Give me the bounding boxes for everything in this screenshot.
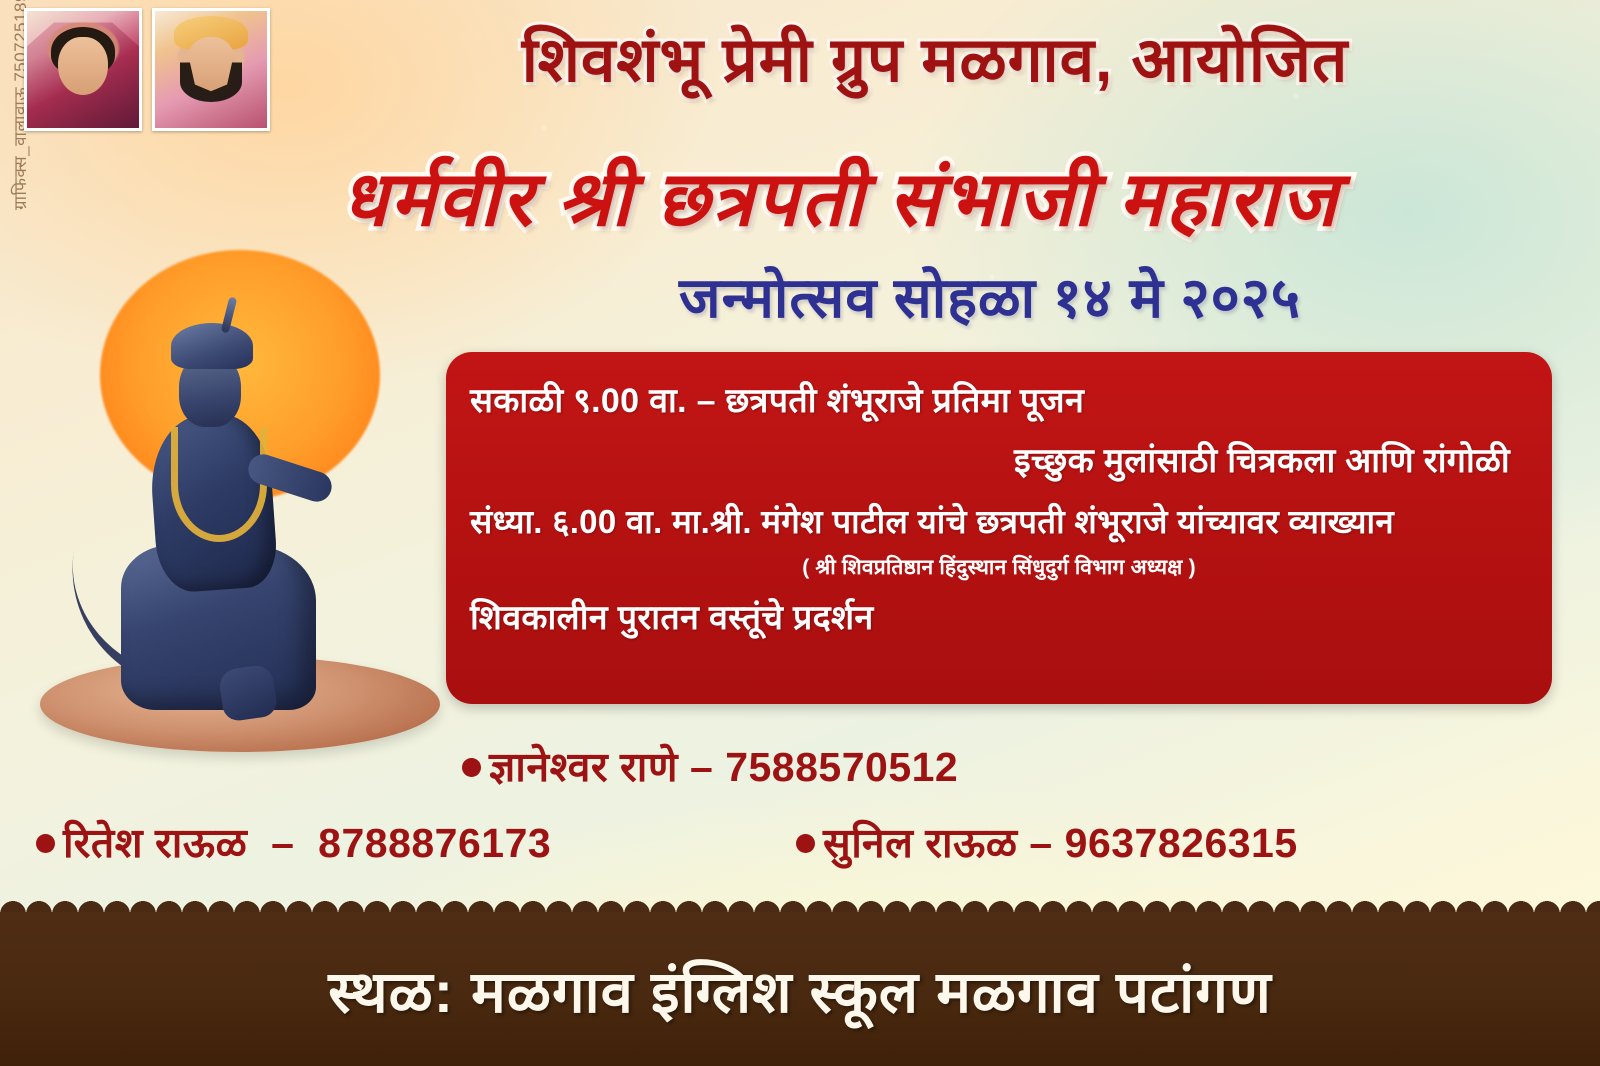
turban-shape	[171, 323, 253, 369]
contact-2-separator: –	[271, 820, 294, 866]
garland-shape	[171, 427, 267, 542]
contact-3-phone[interactable]: 9637826315	[1065, 820, 1298, 866]
contact-1-phone[interactable]: 7588570512	[725, 744, 958, 790]
contact-3[interactable]: सुनिल राऊळ – 9637826315	[796, 814, 1298, 870]
contact-2-phone[interactable]: 8788876173	[318, 820, 551, 866]
programme-line-1: सकाळी ९.00 वा. – छत्रपती शंभूराजे प्रतिम…	[470, 380, 1528, 424]
portrait-jijau	[24, 8, 142, 131]
programme-line-3-subtitle: ( श्री शिवप्रतिष्ठान हिंदुस्थान सिंधुदुर…	[470, 553, 1528, 581]
programme-line-2: इच्छुक मुलांसाठी चित्रकला आणि रांगोळी	[470, 440, 1528, 484]
contact-2[interactable]: रितेश राऊळ – 8788876173	[36, 814, 551, 870]
venue-text: स्थळ: मळगाव इंग्लिश स्कूल मळगाव पटांगण	[328, 950, 1272, 1029]
bullet-icon	[36, 834, 55, 853]
statue-illustration	[20, 240, 450, 760]
bullet-icon	[796, 834, 815, 853]
leg-shape	[218, 663, 279, 722]
contact-3-name: सुनिल राऊळ	[823, 820, 1018, 866]
page-title: धर्मवीर श्री छत्रपती संभाजी महाराज	[130, 145, 1550, 248]
programme-line-3: संध्या. ६.00 वा. मा.श्री. मंगेश पाटील या…	[470, 501, 1528, 543]
portrait-shivaji	[152, 8, 270, 131]
venue-bar: स्थळ: मळगाव इंग्लिश स्कूल मळगाव पटांगण	[0, 912, 1600, 1066]
statue-figure	[75, 295, 375, 715]
programme-panel: सकाळी ९.00 वा. – छत्रपती शंभूराजे प्रतिम…	[446, 352, 1552, 704]
contact-1-name: ज्ञानेश्वर राणे	[489, 744, 678, 790]
bullet-icon	[462, 758, 481, 777]
event-poster: ग्राफिक्स_वालावाऊ 7507251891 शिवशंभू प्र…	[0, 0, 1600, 1066]
event-subtitle: जन्मोत्सव सोहळा १४ मे २०२५	[420, 258, 1560, 334]
venue-banner: स्थळ: मळगाव इंग्लिश स्कूल मळगाव पटांगण	[0, 888, 1600, 1066]
contact-3-separator: –	[1029, 820, 1052, 866]
contact-1-separator: –	[690, 744, 713, 790]
portrait-strip	[24, 8, 270, 131]
contact-1[interactable]: ज्ञानेश्वर राणे – 7588570512	[462, 738, 958, 794]
contact-2-name: रितेश राऊळ	[63, 820, 247, 866]
scallop-edge-decoration	[0, 888, 1600, 914]
programme-line-4: शिवकालीन पुरातन वस्तूंचे प्रदर्शन	[470, 597, 1528, 641]
face-shape	[58, 37, 108, 95]
organizer-heading: शिवशंभू प्रेमी ग्रुप मळगाव, आयोजित	[320, 16, 1550, 100]
